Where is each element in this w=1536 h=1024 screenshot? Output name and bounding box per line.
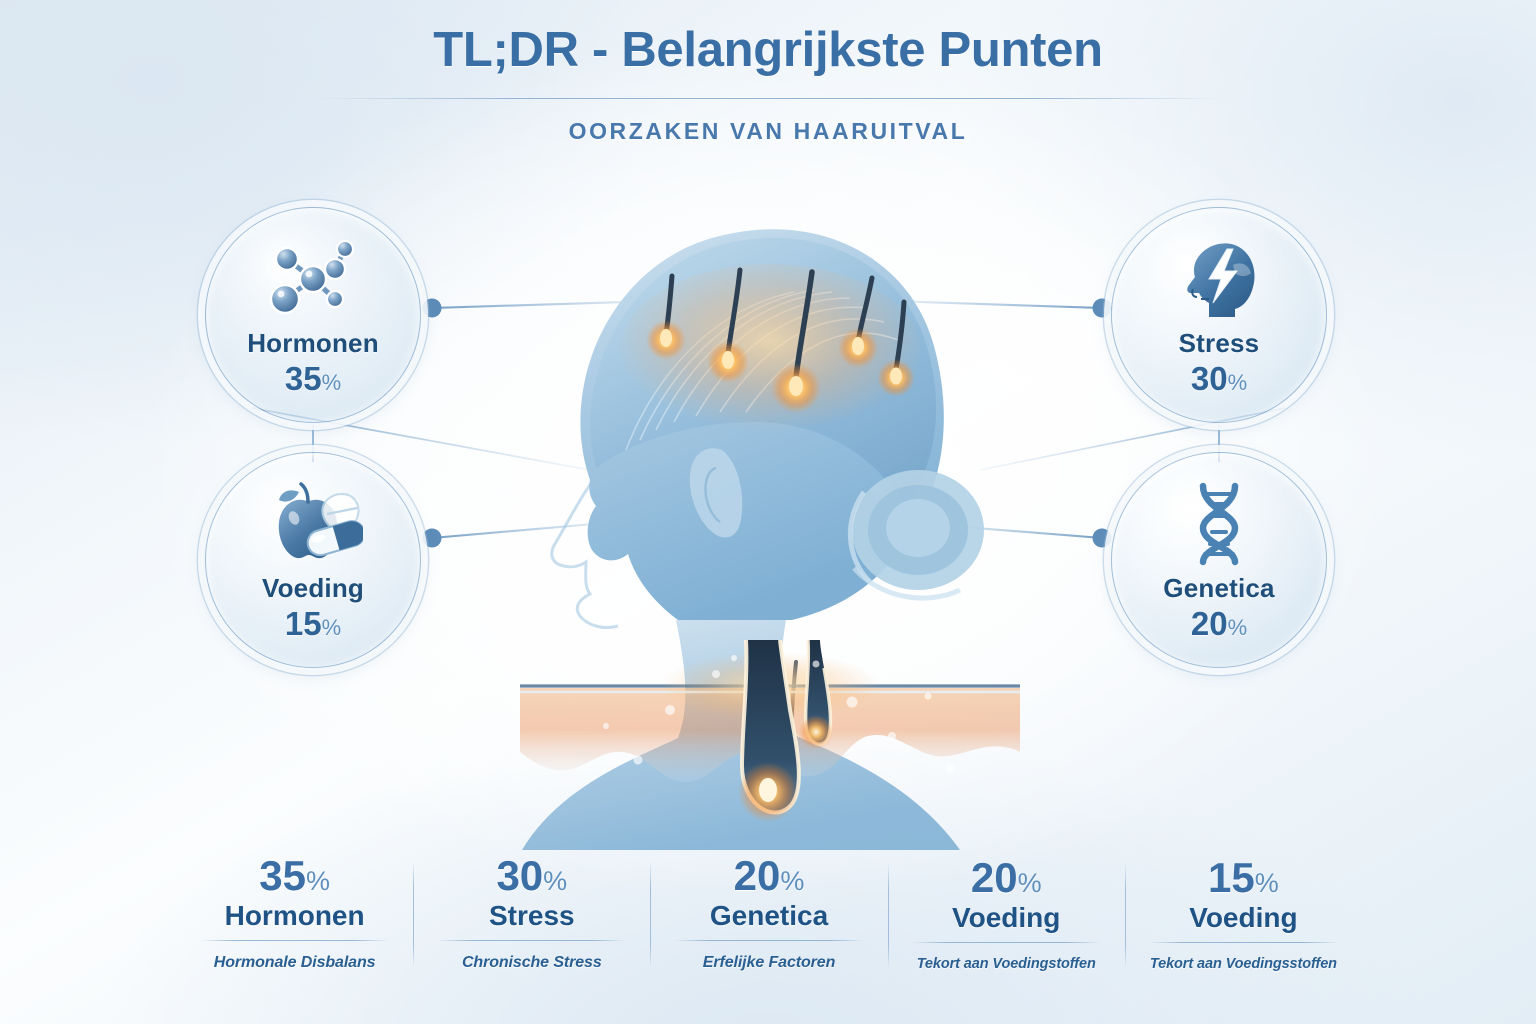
stat-divider (437, 940, 626, 941)
stat-percent: 20% (656, 855, 881, 898)
stat-item: 35% Hormonen Hormonale Disbalans (176, 855, 413, 972)
factor-label: Stress (1179, 328, 1260, 359)
stat-percent: 30% (419, 855, 644, 898)
stat-name: Hormonen (182, 898, 407, 933)
factor-circle-voeding[interactable]: Voeding 15% (205, 452, 421, 668)
stat-description: Chronische Stress (419, 954, 644, 972)
stat-divider (674, 940, 863, 941)
apple-pill-icon (261, 481, 365, 567)
stat-percent: 15% (1131, 857, 1356, 900)
factor-label: Voeding (262, 573, 364, 604)
factor-percent: 20% (1191, 605, 1247, 643)
stat-divider (1149, 942, 1338, 943)
connector-dot (423, 299, 442, 318)
factor-circle-genetica[interactable]: Genetica 20% (1111, 452, 1327, 668)
head-lightning-icon (1167, 236, 1271, 322)
factor-circle-stress[interactable]: Stress 30% (1111, 207, 1327, 423)
molecule-icon (261, 236, 365, 322)
factor-percent: 15% (285, 605, 341, 643)
connector-dot (423, 529, 442, 548)
stat-item: 20% Voeding Tekort aan Voedingstoffen (888, 857, 1125, 972)
stat-description: Tekort aan Voedingsstoffen (1131, 956, 1356, 972)
infographic-canvas: TL;DR - Belangrijkste Punten OORZAKEN VA… (0, 0, 1536, 1024)
stat-description: Erfelijke Factoren (656, 954, 881, 972)
stat-divider (912, 942, 1101, 943)
stat-name: Voeding (1131, 900, 1356, 935)
stat-percent: 35% (182, 855, 407, 898)
stat-name: Genetica (656, 898, 881, 933)
factor-label: Genetica (1163, 573, 1274, 604)
stat-item: 15% Voeding Tekort aan Voedingsstoffen (1125, 857, 1362, 972)
stat-percent: 20% (894, 857, 1119, 900)
dna-icon (1167, 481, 1271, 567)
hair-bun (850, 470, 984, 598)
factor-label: Hormonen (247, 328, 379, 359)
stat-item: 20% Genetica Erfelijke Factoren (650, 855, 887, 972)
stat-name: Stress (419, 898, 644, 933)
stat-name: Voeding (894, 900, 1119, 935)
stat-description: Hormonale Disbalans (182, 954, 407, 972)
stats-row: 35% Hormonen Hormonale Disbalans 30% Str… (176, 855, 1362, 972)
follicle-cross-section (520, 640, 1020, 855)
factor-circle-hormonen[interactable]: Hormonen 35% (205, 207, 421, 423)
stat-description: Tekort aan Voedingstoffen (894, 956, 1119, 972)
factor-percent: 30% (1191, 360, 1247, 398)
stat-item: 30% Stress Chronische Stress (413, 855, 650, 972)
stat-divider (200, 940, 389, 941)
factor-percent: 35% (285, 360, 341, 398)
